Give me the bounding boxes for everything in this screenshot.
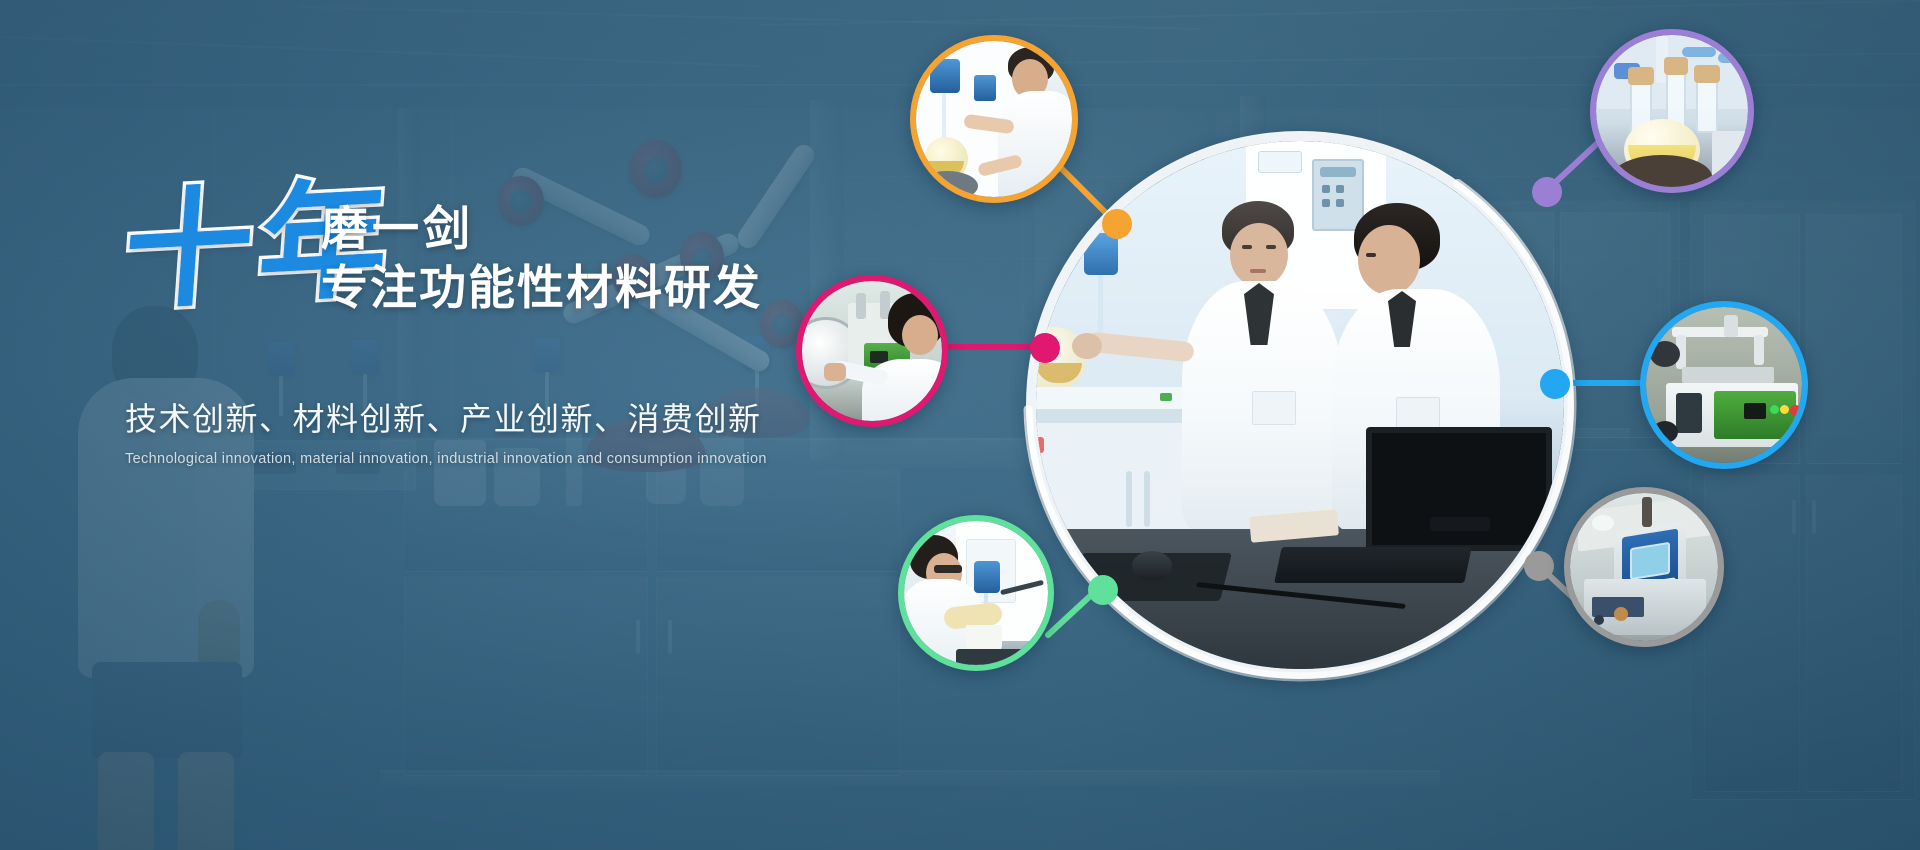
node-dot-flask xyxy=(1532,177,1562,207)
cabinet-handle xyxy=(1144,471,1150,527)
node-dot-tester xyxy=(1540,369,1570,399)
node-photo-analyzer xyxy=(1570,493,1718,641)
weighing-scene xyxy=(904,521,1048,665)
indicator-light xyxy=(1160,393,1172,401)
node-dot-weighing xyxy=(1088,575,1118,605)
node-photo-flask xyxy=(1596,35,1748,187)
subtitle-en: Technological innovation, material innov… xyxy=(125,451,765,467)
researcher-face xyxy=(1230,223,1288,287)
reactor-scene xyxy=(916,41,1072,197)
flask-scene xyxy=(1596,35,1748,187)
node-dot-analyzer xyxy=(1524,551,1554,581)
researcher-hand xyxy=(1072,333,1102,359)
technician-face xyxy=(902,315,938,355)
flask-neck xyxy=(1696,79,1718,133)
probe xyxy=(1642,497,1652,527)
wall-label xyxy=(1258,151,1302,173)
stirrer-motor xyxy=(1084,233,1118,275)
slogan-line-1: 磨一剑 xyxy=(321,200,762,257)
panel-button xyxy=(1322,199,1330,207)
keyboard xyxy=(1274,547,1472,583)
machine-post xyxy=(856,293,866,319)
node-circle-weighing xyxy=(898,515,1054,671)
node-photo-reactor xyxy=(916,41,1072,197)
cork-stopper xyxy=(1628,67,1654,85)
researcher-labcoat xyxy=(998,91,1072,197)
counterweight xyxy=(1650,341,1680,367)
node-dot-coating xyxy=(1030,333,1060,363)
port xyxy=(1594,615,1604,625)
node-circle-reactor xyxy=(910,35,1078,203)
red-cap xyxy=(1036,437,1044,453)
cork-stopper xyxy=(1664,57,1688,75)
safety-glasses xyxy=(934,565,962,573)
researcher-mouth xyxy=(1250,269,1266,273)
researcher-eye xyxy=(1242,245,1252,249)
researcher-eye xyxy=(1366,253,1376,257)
heating-mantle xyxy=(916,171,978,197)
clamp xyxy=(1682,47,1716,57)
subtitle-cn: 技术创新、材料创新、产业创新、消费创新 xyxy=(125,394,765,440)
node-photo-tester xyxy=(1646,307,1802,463)
researcher-face xyxy=(1358,225,1420,295)
monitor xyxy=(1366,427,1552,551)
sample-holder xyxy=(1682,367,1774,383)
indicator-red xyxy=(1790,405,1801,416)
circle-infographic xyxy=(990,95,1610,715)
indicator-green xyxy=(1770,405,1779,414)
panel-display xyxy=(1744,403,1766,419)
labcoat-pocket xyxy=(1396,397,1440,431)
bench-dark xyxy=(956,649,1048,665)
test-arm-post xyxy=(1754,335,1764,365)
panel-display xyxy=(1320,167,1356,177)
hero-banner: 十年 十年 磨一剑 专注功能性材料研发 技术创新、材料创新、产业创新、消费创新 … xyxy=(0,0,1920,850)
side-panel xyxy=(1676,393,1702,433)
monitor-stand xyxy=(1430,517,1490,531)
screen xyxy=(1630,542,1670,580)
sample-dish xyxy=(1592,515,1614,531)
indicator-yellow xyxy=(1780,405,1789,414)
coating-scene xyxy=(802,281,942,421)
researcher-eye xyxy=(1266,245,1276,249)
mouse xyxy=(1132,551,1172,581)
node-circle-analyzer xyxy=(1564,487,1724,647)
knob xyxy=(1614,607,1628,621)
tester-scene xyxy=(1646,307,1802,463)
node-dot-reactor xyxy=(1102,209,1132,239)
slogan-block: 磨一剑 专注功能性材料研发 xyxy=(321,200,762,317)
stirrer-motor xyxy=(930,59,960,93)
stirrer-motor xyxy=(974,75,996,101)
slogan-line-2: 专注功能性材料研发 xyxy=(321,259,762,316)
equipment-side xyxy=(1712,131,1748,187)
technician-hand xyxy=(824,363,846,381)
clamp xyxy=(1718,53,1744,63)
test-head xyxy=(1724,315,1738,337)
node-circle-tester xyxy=(1640,301,1808,469)
stirrer-motor xyxy=(974,561,1000,593)
headline-row: 十年 十年 磨一剑 专注功能性材料研发 xyxy=(125,186,765,356)
labcoat-pocket xyxy=(1252,391,1296,425)
panel-button xyxy=(1336,199,1344,207)
node-circle-flask xyxy=(1590,29,1754,193)
node-photo-coating xyxy=(802,281,942,421)
hand-wheel xyxy=(1652,421,1678,443)
panel-button xyxy=(1322,185,1330,193)
node-photo-weighing xyxy=(904,521,1048,665)
cabinet-handle xyxy=(1126,471,1132,527)
analyzer-scene xyxy=(1570,493,1718,641)
cork-stopper xyxy=(1694,65,1720,83)
node-circle-coating xyxy=(796,275,948,427)
hero-copy: 十年 十年 磨一剑 专注功能性材料研发 技术创新、材料创新、产业创新、消费创新 … xyxy=(125,186,765,467)
panel-button xyxy=(1336,185,1344,193)
